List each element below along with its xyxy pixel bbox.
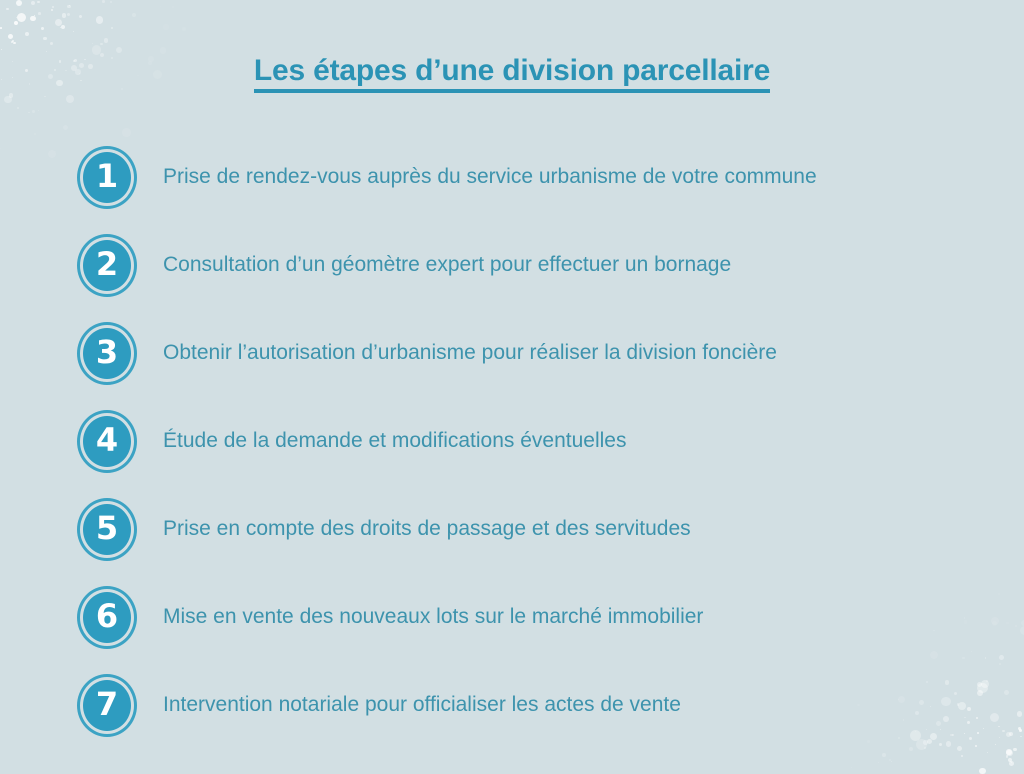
speckle-dot	[79, 15, 82, 18]
speckle-dot	[1011, 762, 1012, 763]
speckle-dot	[41, 27, 44, 30]
speckle-dot	[160, 6, 161, 7]
speckle-dot	[69, 5, 70, 6]
speckle-dot	[12, 40, 14, 42]
step-row: 7Intervention notariale pour officialise…	[0, 661, 1024, 749]
speckle-dot	[8, 34, 13, 39]
speckle-dot	[50, 42, 53, 45]
speckle-dot	[100, 43, 103, 46]
speckle-dot	[1009, 761, 1015, 767]
speckle-dot	[38, 110, 39, 111]
speckle-dot	[43, 37, 47, 41]
speckle-dot	[104, 38, 109, 43]
speckle-dot	[1006, 749, 1012, 755]
speckle-dot	[1008, 758, 1012, 762]
step-number-badge: 6	[77, 586, 137, 649]
step-row: 2Consultation d’un géomètre expert pour …	[0, 221, 1024, 309]
step-number-badge: 3	[77, 322, 137, 385]
badge-number-label: 6	[96, 600, 118, 632]
speckle-dot	[17, 13, 26, 22]
speckle-dot	[52, 6, 54, 8]
speckle-dot	[182, 27, 187, 32]
speckle-dot	[882, 753, 886, 757]
speckle-dot	[1006, 750, 1012, 756]
speckle-dot	[0, 27, 2, 29]
speckle-dot	[61, 25, 65, 29]
speckle-dot	[32, 110, 35, 113]
step-number-badge: 4	[77, 410, 137, 473]
speckle-dot	[63, 125, 68, 130]
badge-number-label: 4	[96, 424, 118, 456]
step-description: Étude de la demande et modifications éve…	[163, 428, 626, 454]
step-description: Mise en vente des nouveaux lots sur le m…	[163, 604, 703, 630]
step-row: 5Prise en compte des droits de passage e…	[0, 485, 1024, 573]
badge-number-label: 5	[96, 512, 118, 544]
step-description: Intervention notariale pour officialiser…	[163, 692, 681, 718]
step-row: 1Prise de rendez-vous auprès du service …	[0, 133, 1024, 221]
speckle-dot	[6, 8, 8, 10]
badge-number-label: 7	[96, 688, 118, 720]
speckle-dot	[67, 13, 70, 16]
speckle-dot	[17, 107, 19, 109]
speckle-dot	[110, 1, 112, 3]
speckle-dot	[14, 21, 18, 25]
speckle-dot	[878, 762, 879, 763]
step-description: Consultation d’un géomètre expert pour e…	[163, 252, 731, 278]
speckle-dot	[979, 768, 986, 774]
speckle-dot	[9, 93, 14, 98]
speckle-dot	[102, 0, 105, 3]
step-row: 3Obtenir l’autorisation d’urbanisme pour…	[0, 309, 1024, 397]
speckle-dot	[60, 27, 61, 28]
speckle-dot	[92, 43, 93, 44]
speckle-dot	[16, 17, 17, 18]
speckle-dot	[4, 96, 12, 104]
speckle-dot	[28, 112, 30, 114]
speckle-dot	[172, 6, 174, 8]
step-number-badge: 1	[77, 146, 137, 209]
speckle-dot	[31, 1, 36, 6]
badge-number-label: 3	[96, 336, 118, 368]
speckle-dot	[1006, 755, 1009, 758]
speckle-dot	[889, 759, 891, 761]
speckle-dot	[67, 5, 71, 9]
speckle-dot	[1, 49, 2, 50]
speckle-dot	[891, 761, 893, 763]
speckle-dot	[987, 752, 988, 753]
speckle-dot	[96, 16, 104, 24]
speckle-dot	[116, 47, 122, 53]
speckle-dot	[51, 9, 53, 11]
step-number-badge: 7	[77, 674, 137, 737]
speckle-dot	[44, 96, 46, 98]
speckle-dot	[38, 12, 41, 15]
speckle-dot	[132, 13, 136, 17]
speckle-dot	[30, 16, 36, 22]
speckle-dot	[163, 24, 170, 31]
speckle-dot	[34, 15, 35, 16]
step-description: Obtenir l’autorisation d’urbanisme pour …	[163, 340, 777, 366]
speckle-dot	[13, 42, 15, 44]
step-number-badge: 5	[77, 498, 137, 561]
speckle-dot	[961, 755, 963, 757]
badge-number-label: 2	[96, 248, 118, 280]
speckle-dot	[73, 31, 74, 32]
steps-list: 1Prise de rendez-vous auprès du service …	[0, 133, 1024, 749]
step-row: 6Mise en vente des nouveaux lots sur le …	[0, 573, 1024, 661]
speckle-dot	[46, 51, 48, 53]
step-number-badge: 2	[77, 234, 137, 297]
step-row: 4Étude de la demande et modifications év…	[0, 397, 1024, 485]
speckle-dot	[11, 41, 13, 43]
speckle-dot	[55, 19, 62, 26]
speckle-dot	[37, 1, 40, 4]
speckle-dot	[16, 0, 22, 6]
step-description: Prise en compte des droits de passage et…	[163, 516, 691, 542]
speckle-dot	[25, 32, 29, 36]
speckle-dot	[62, 13, 66, 17]
speckle-dot	[111, 27, 113, 29]
page-title-text: Les étapes d’une division parcellaire	[254, 54, 770, 93]
page-title: Les étapes d’une division parcellaire	[0, 54, 1024, 88]
badge-number-label: 1	[96, 160, 118, 192]
step-description: Prise de rendez-vous auprès du service u…	[163, 164, 817, 190]
speckle-dot	[66, 95, 74, 103]
